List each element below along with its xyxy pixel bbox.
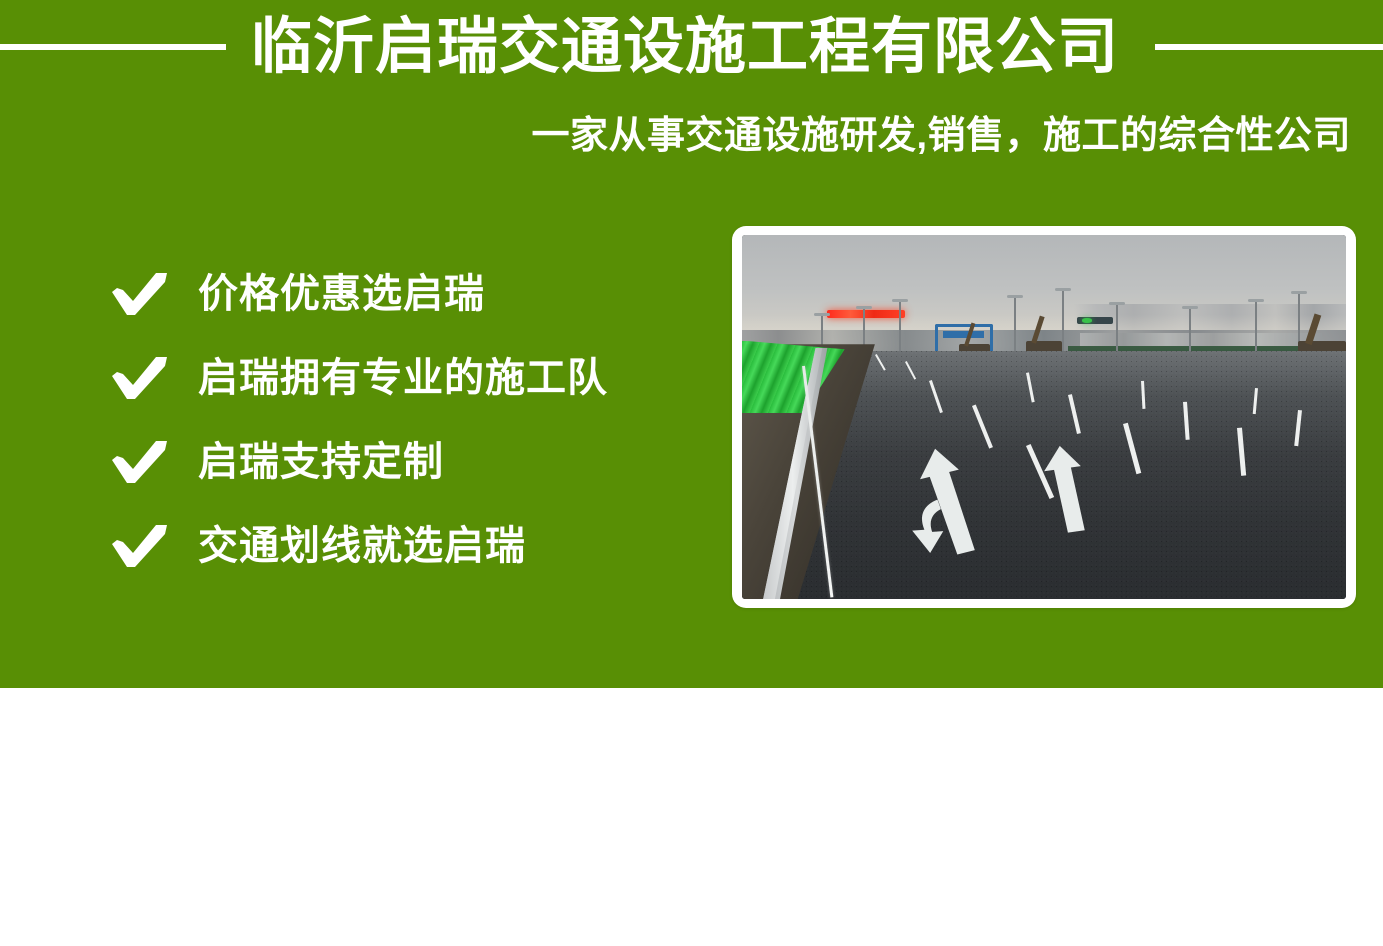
- check-icon: [110, 438, 170, 486]
- straight-arrow-marking: [1026, 442, 1112, 538]
- company-title: 临沂启瑞交通设施工程有限公司: [250, 8, 1120, 84]
- decorative-rule-right: [1155, 44, 1383, 50]
- tower-crane-icon: [1298, 293, 1300, 344]
- feature-label: 启瑞支持定制: [198, 438, 444, 486]
- decorative-rule-left: [0, 44, 226, 50]
- green-traffic-signal: [1077, 317, 1113, 324]
- check-icon: [110, 270, 170, 318]
- feature-item: 价格优惠选启瑞: [110, 252, 680, 336]
- feature-label: 交通划线就选启瑞: [198, 522, 526, 570]
- feature-label: 价格优惠选启瑞: [198, 270, 485, 318]
- photo-card: [732, 226, 1356, 608]
- street-lamp-icon: [1062, 290, 1064, 356]
- bottom-white-area: [0, 688, 1383, 946]
- street-lamp-icon: [1116, 304, 1118, 355]
- feature-item: 交通划线就选启瑞: [110, 504, 680, 588]
- feature-item: 启瑞拥有专业的施工队: [110, 336, 680, 420]
- feature-item: 启瑞支持定制: [110, 420, 680, 504]
- green-banner: 临沂启瑞交通设施工程有限公司 一家从事交通设施研发,销售，施工的综合性公司 价格…: [0, 0, 1383, 688]
- street-lamp-icon: [899, 301, 901, 352]
- red-signal-gantry: [827, 310, 906, 318]
- straight-and-left-turn-arrow-marking: [893, 442, 1013, 567]
- poster-page: 临沂启瑞交通设施工程有限公司 一家从事交通设施研发,销售，施工的综合性公司 价格…: [0, 0, 1383, 946]
- check-icon: [110, 522, 170, 570]
- road-marking-project-photo: [742, 235, 1346, 599]
- street-lamp-icon: [1189, 308, 1191, 355]
- banner-header: 临沂启瑞交通设施工程有限公司 一家从事交通设施研发,销售，施工的综合性公司: [0, 0, 1383, 170]
- street-lamp-icon: [1255, 301, 1257, 356]
- check-icon: [110, 354, 170, 402]
- feature-list: 价格优惠选启瑞 启瑞拥有专业的施工队 启瑞支持定制: [110, 252, 680, 588]
- feature-label: 启瑞拥有专业的施工队: [198, 354, 608, 402]
- street-lamp-icon: [1014, 297, 1016, 355]
- company-tagline: 一家从事交通设施研发,销售，施工的综合性公司: [531, 112, 1351, 160]
